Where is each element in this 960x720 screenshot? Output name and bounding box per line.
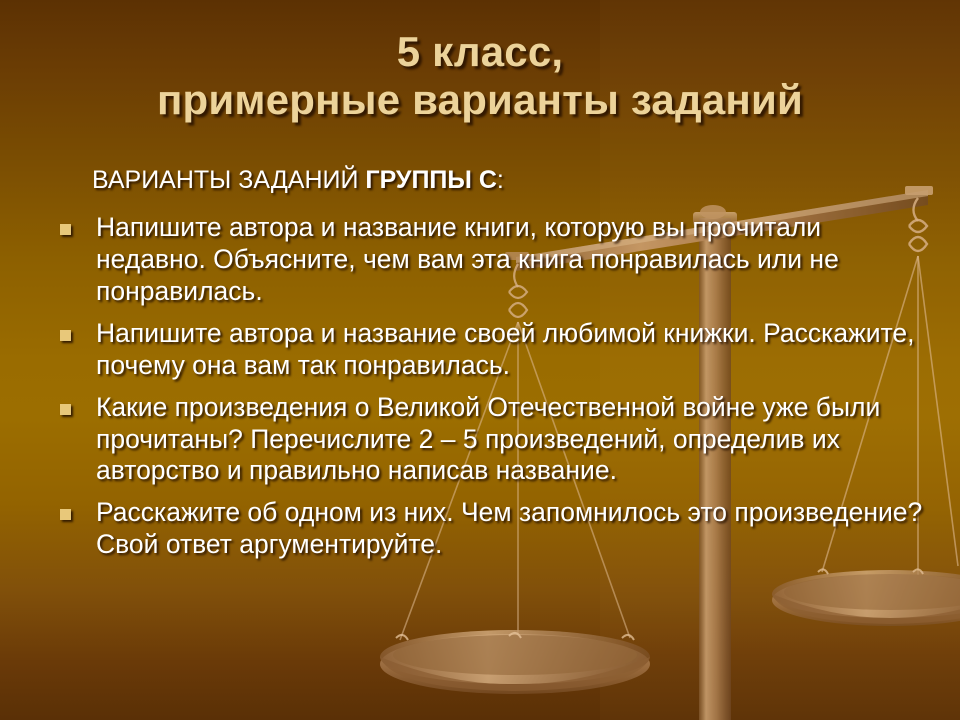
list-item: Напишите автора и название книги, котору…	[56, 212, 936, 308]
bullet-square-icon	[60, 330, 71, 341]
bullet-square-icon	[60, 224, 71, 235]
bullet-square-icon	[60, 509, 71, 520]
title-line-2: примерные варианты заданий	[0, 76, 960, 124]
lead-prefix: ВАРИАНТЫ ЗАДАНИЙ	[92, 166, 365, 194]
slide-title: 5 класс, примерные варианты заданий	[0, 28, 960, 124]
title-line-1: 5 класс,	[0, 28, 960, 76]
list-item-text: Какие произведения о Великой Отечественн…	[96, 392, 880, 486]
lead-suffix: :	[497, 166, 504, 194]
bullet-square-icon	[60, 404, 71, 415]
list-item-text: Напишите автора и название своей любимой…	[96, 318, 915, 380]
slide-content: 5 класс, примерные варианты заданий ВАРИ…	[0, 0, 960, 720]
list-item: Какие произведения о Великой Отечественн…	[56, 392, 936, 488]
list-item-text: Расскажите об одном из них. Чем запомнил…	[96, 497, 922, 559]
list-item-text: Напишите автора и название книги, котору…	[96, 212, 839, 306]
task-list: Напишите автора и название книги, котору…	[56, 212, 936, 561]
list-item: Расскажите об одном из них. Чем запомнил…	[56, 497, 936, 561]
lead-heading: ВАРИАНТЫ ЗАДАНИЙ ГРУППЫ С:	[92, 165, 504, 195]
presentation-slide: 5 класс, примерные варианты заданий ВАРИ…	[0, 0, 960, 720]
list-item: Напишите автора и название своей любимой…	[56, 318, 936, 382]
lead-group-label: ГРУППЫ С	[365, 166, 496, 194]
